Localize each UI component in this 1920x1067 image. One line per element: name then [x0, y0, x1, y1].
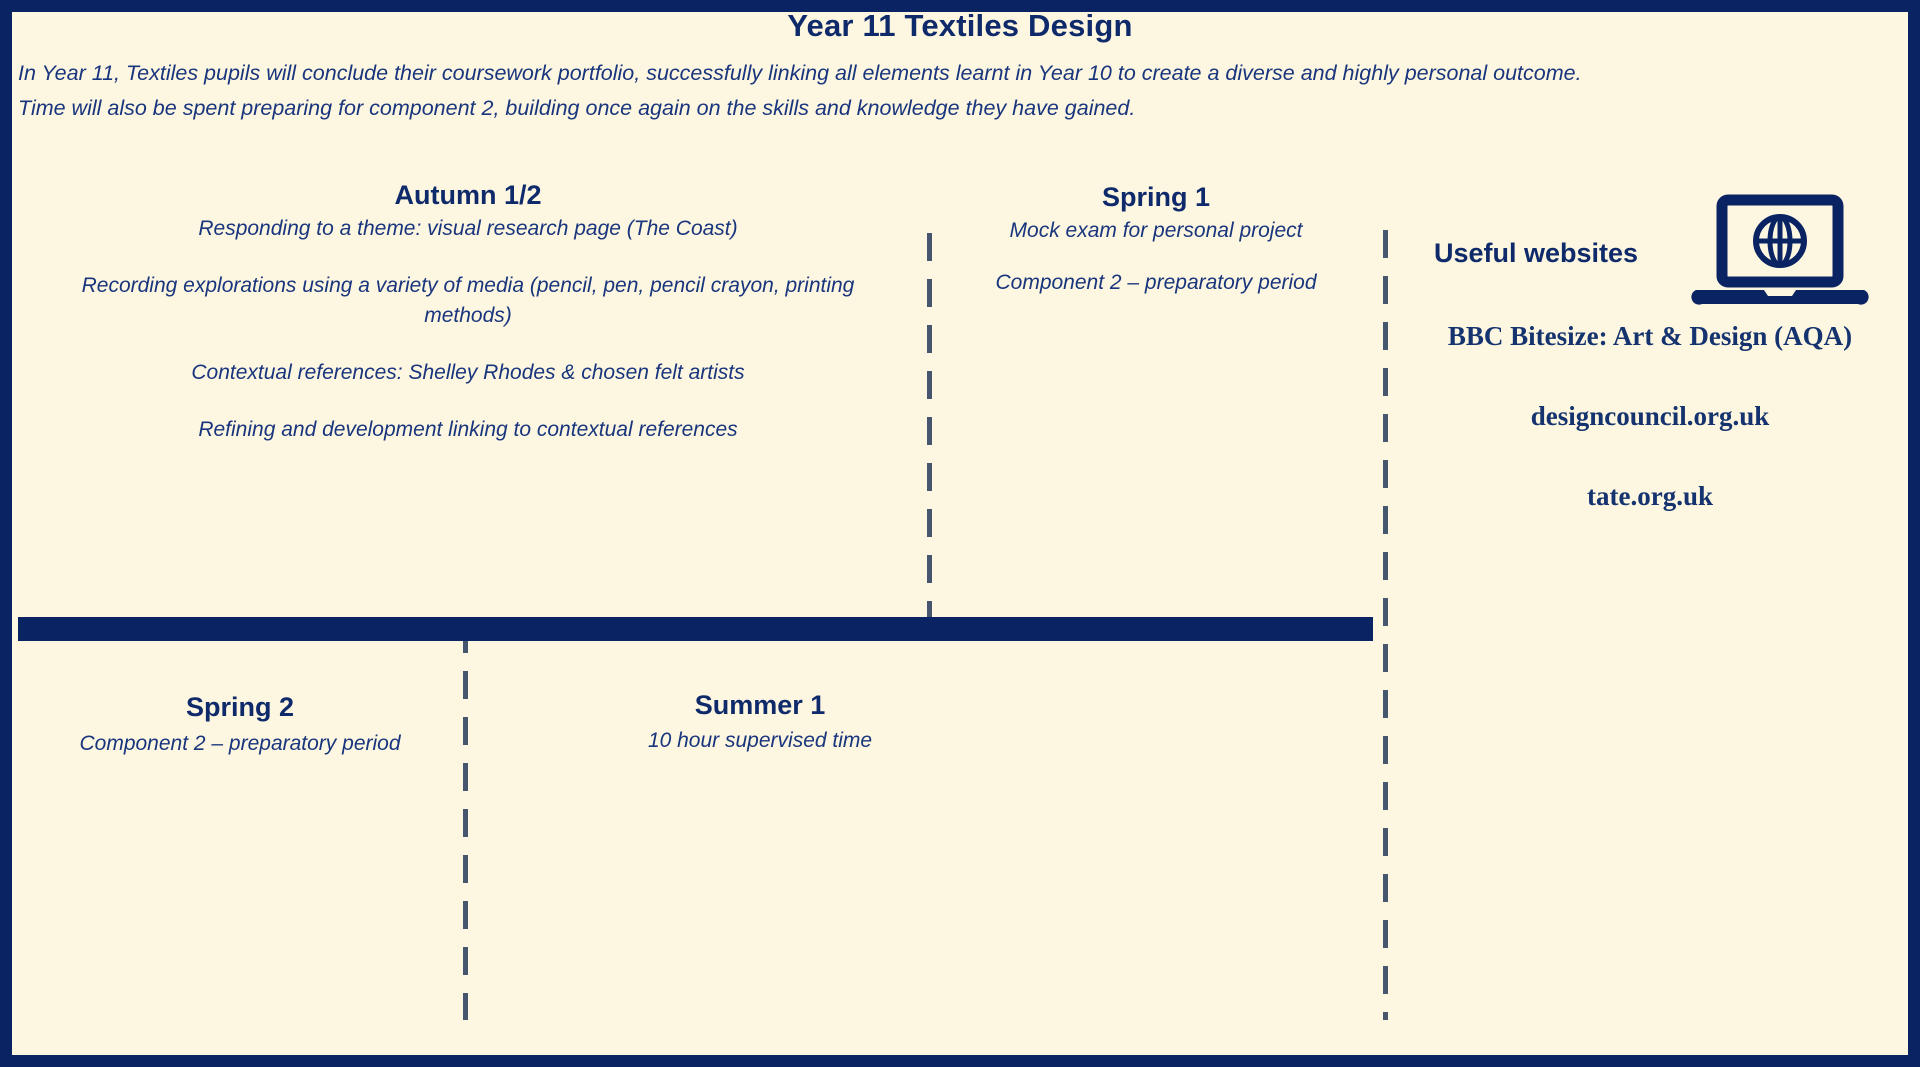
term-item: Responding to a theme: visual research p…: [18, 214, 918, 244]
website-link-tate[interactable]: tate.org.uk: [1400, 478, 1900, 514]
useful-websites-heading: Useful websites: [1434, 238, 1638, 269]
term-title-summer1: Summer 1: [560, 688, 960, 722]
term-block-autumn: Autumn 1/2 Responding to a theme: visual…: [18, 178, 918, 472]
term-item: 10 hour supervised time: [560, 726, 960, 756]
term-block-spring2: Spring 2 Component 2 – preparatory perio…: [30, 690, 450, 760]
term-item: Mock exam for personal project: [940, 216, 1372, 246]
poster-canvas: Year 11 Textiles Design In Year 11, Text…: [0, 0, 1920, 1067]
divider-autumn-spring1: [927, 233, 932, 618]
website-link-bbc-bitesize[interactable]: BBC Bitesize: Art & Design (AQA): [1400, 318, 1900, 354]
website-list: BBC Bitesize: Art & Design (AQA) designc…: [1400, 318, 1900, 514]
term-item: Component 2 – preparatory period: [30, 728, 450, 760]
curriculum-poster: Year 11 Textiles Design In Year 11, Text…: [0, 0, 1920, 1067]
page-title: Year 11 Textiles Design: [0, 8, 1920, 44]
useful-websites-panel: Useful websites: [1400, 180, 1900, 514]
website-link-designcouncil[interactable]: designcouncil.org.uk: [1400, 398, 1900, 434]
intro-line-1: In Year 11, Textiles pupils will conclud…: [18, 56, 1902, 91]
intro-paragraph: In Year 11, Textiles pupils will conclud…: [18, 56, 1902, 126]
term-item: Recording explorations using a variety o…: [18, 271, 918, 331]
timeline-bar: [18, 617, 1373, 641]
term-item: Refining and development linking to cont…: [18, 415, 918, 445]
divider-spring2-summer1: [463, 625, 468, 1020]
term-item: Contextual references: Shelley Rhodes & …: [18, 358, 918, 388]
term-title-autumn: Autumn 1/2: [18, 178, 918, 212]
term-title-spring2: Spring 2: [30, 690, 450, 724]
term-block-spring1: Spring 1 Mock exam for personal project …: [940, 180, 1372, 320]
websites-header-row: Useful websites: [1400, 180, 1900, 300]
term-block-summer1: Summer 1 10 hour supervised time: [560, 688, 960, 756]
intro-line-2: Time will also be spent preparing for co…: [18, 91, 1902, 126]
laptop-globe-icon: [1690, 194, 1870, 314]
term-title-spring1: Spring 1: [940, 180, 1372, 214]
divider-spring1-websites: [1383, 230, 1388, 1020]
term-item: Component 2 – preparatory period: [940, 268, 1372, 298]
